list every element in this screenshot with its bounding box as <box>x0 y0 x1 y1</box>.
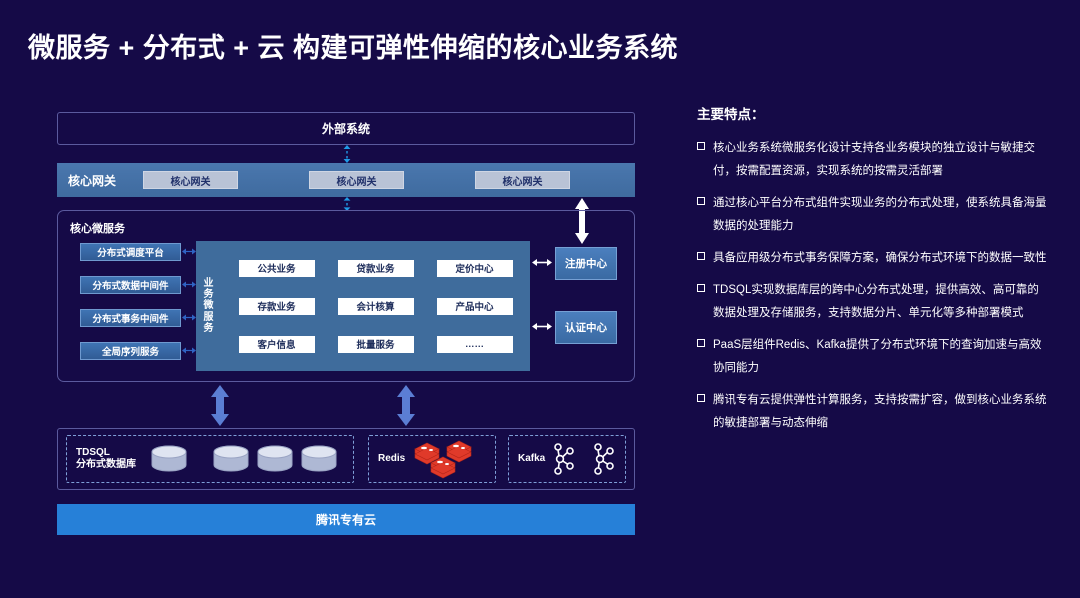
arrow-left-component-3 <box>182 313 196 322</box>
bullet-square-icon <box>697 197 705 205</box>
gateway-chip-1[interactable]: 核心网关 <box>143 171 238 189</box>
kafka-icons <box>551 442 617 476</box>
feature-item-text: PaaS层组件Redis、Kafka提供了分布式环境下的查询加速与高效协同能力 <box>713 334 1049 380</box>
arrow-left-component-1 <box>182 247 196 256</box>
service-chip[interactable]: 会计核算 <box>338 298 414 315</box>
tdsql-label-line1: TDSQL <box>76 447 110 458</box>
service-chip-label: 存款业务 <box>257 299 295 313</box>
arrow-left-component-4 <box>182 346 196 355</box>
service-chip-label: 贷款业务 <box>356 261 394 275</box>
bullet-square-icon <box>697 339 705 347</box>
database-cylinder-icon <box>150 445 188 473</box>
left-component-1[interactable]: 分布式调度平台 <box>80 243 181 261</box>
service-chip-label: 会计核算 <box>356 299 394 313</box>
gateway-chip-2[interactable]: 核心网关 <box>309 171 404 189</box>
registry-center-label: 注册中心 <box>565 256 607 271</box>
service-chip-label: …… <box>465 339 484 350</box>
bullet-square-icon <box>697 252 705 260</box>
service-chip[interactable]: 批量服务 <box>338 336 414 353</box>
arrow-to-auth-center <box>532 321 552 332</box>
business-microservice-panel: 业务微服务 公共业务 贷款业务 定价中心 存款业务 会计核算 产品中心 客户信息… <box>196 241 530 371</box>
left-component-3[interactable]: 分布式事务中间件 <box>80 309 181 327</box>
core-gateway-band-label: 核心网关 <box>68 172 116 189</box>
gateway-chip-2-label: 核心网关 <box>337 173 377 188</box>
tdsql-label: TDSQL 分布式数据库 <box>76 447 136 472</box>
data-layer-panel: TDSQL 分布式数据库 <box>57 428 635 490</box>
service-chip-label: 公共业务 <box>257 261 295 275</box>
core-microservice-panel: 核心微服务 分布式调度平台 分布式数据中间件 分布式事务中间件 全局序列服务 <box>57 210 635 382</box>
feature-item-text: 通过核心平台分布式组件实现业务的分布式处理，使系统具备海量数据的处理能力 <box>713 192 1049 238</box>
arrow-left-component-2 <box>182 280 196 289</box>
gateway-chip-3[interactable]: 核心网关 <box>475 171 570 189</box>
bullet-square-icon <box>697 284 705 292</box>
bullet-square-icon <box>697 142 705 150</box>
service-chip[interactable]: 产品中心 <box>437 298 513 315</box>
kafka-node-icon <box>591 442 617 476</box>
external-system-box: 外部系统 <box>57 112 635 145</box>
auth-center-label: 认证中心 <box>565 320 607 335</box>
registry-center-button[interactable]: 注册中心 <box>555 247 617 280</box>
tdsql-cylinders <box>150 445 338 473</box>
feature-item: 具备应用级分布式事务保障方案，确保分布式环境下的数据一致性 <box>697 247 1049 270</box>
service-chip[interactable]: 存款业务 <box>239 298 315 315</box>
redis-label: Redis <box>378 453 405 466</box>
service-chip[interactable]: 定价中心 <box>437 260 513 277</box>
arrow-gateway-to-core <box>340 197 354 211</box>
left-component-4-label: 全局序列服务 <box>102 344 159 358</box>
left-component-3-label: 分布式事务中间件 <box>92 311 168 325</box>
kafka-cell: Kafka <box>508 435 626 483</box>
service-chip[interactable]: 客户信息 <box>239 336 315 353</box>
service-chip-label: 客户信息 <box>257 337 295 351</box>
left-component-2-label: 分布式数据中间件 <box>92 278 168 292</box>
feature-item: TDSQL实现数据库层的跨中心分布式处理，提供高效、高可靠的数据处理及存储服务，… <box>697 279 1049 325</box>
feature-item-text: TDSQL实现数据库层的跨中心分布式处理，提供高效、高可靠的数据处理及存储服务，… <box>713 279 1049 325</box>
arrow-core-to-data-left <box>209 385 231 426</box>
feature-item-text: 具备应用级分布式事务保障方案，确保分布式环境下的数据一致性 <box>713 247 1047 270</box>
service-chip-label: 定价中心 <box>455 261 493 275</box>
database-cylinder-icon <box>212 445 250 473</box>
redis-cell: Redis <box>368 435 496 483</box>
service-chip[interactable]: 公共业务 <box>239 260 315 277</box>
kafka-label: Kafka <box>518 453 545 466</box>
service-chip[interactable]: 贷款业务 <box>338 260 414 277</box>
feature-item: 腾讯专有云提供弹性计算服务，支持按需扩容，做到核心业务系统的敏捷部署与动态伸缩 <box>697 389 1049 435</box>
feature-item: 通过核心平台分布式组件实现业务的分布式处理，使系统具备海量数据的处理能力 <box>697 192 1049 238</box>
arrow-external-to-gateway <box>340 145 354 163</box>
page-title: 微服务 + 分布式 + 云 构建可弹性伸缩的核心业务系统 <box>28 26 678 65</box>
gateway-chip-1-label: 核心网关 <box>171 173 211 188</box>
service-chip-label: 产品中心 <box>455 299 493 313</box>
service-chip-label: 批量服务 <box>356 337 394 351</box>
features-title: 主要特点： <box>697 103 1049 123</box>
service-grid: 公共业务 贷款业务 定价中心 存款业务 会计核算 产品中心 客户信息 批量服务 … <box>221 241 530 371</box>
left-component-2[interactable]: 分布式数据中间件 <box>80 276 181 294</box>
database-cylinder-icon <box>256 445 294 473</box>
tencent-cloud-label: 腾讯专有云 <box>316 511 376 528</box>
architecture-diagram: 外部系统 核心网关 核心网关 核心网关 核心网关 <box>57 112 635 537</box>
tdsql-cell: TDSQL 分布式数据库 <box>66 435 354 483</box>
service-chip[interactable]: …… <box>437 336 513 353</box>
feature-item: PaaS层组件Redis、Kafka提供了分布式环境下的查询加速与高效协同能力 <box>697 334 1049 380</box>
gateway-chip-3-label: 核心网关 <box>503 173 543 188</box>
feature-item-text: 核心业务系统微服务化设计支持各业务模块的独立设计与敏捷交付，按需配置资源，实现系… <box>713 137 1049 183</box>
feature-item-text: 腾讯专有云提供弹性计算服务，支持按需扩容，做到核心业务系统的敏捷部署与动态伸缩 <box>713 389 1049 435</box>
kafka-node-icon <box>551 442 577 476</box>
auth-center-button[interactable]: 认证中心 <box>555 311 617 344</box>
core-gateway-band: 核心网关 核心网关 核心网关 核心网关 <box>57 163 635 197</box>
features-panel: 主要特点： 核心业务系统微服务化设计支持各业务模块的独立设计与敏捷交付，按需配置… <box>697 103 1049 444</box>
arrow-to-registry-center <box>532 257 552 268</box>
redis-cube-icon <box>409 437 477 481</box>
tencent-cloud-band: 腾讯专有云 <box>57 504 635 535</box>
business-microservice-vertical-label: 业务微服务 <box>196 241 221 371</box>
tdsql-label-line2: 分布式数据库 <box>76 459 136 470</box>
feature-item: 核心业务系统微服务化设计支持各业务模块的独立设计与敏捷交付，按需配置资源，实现系… <box>697 137 1049 183</box>
external-system-label: 外部系统 <box>322 120 370 137</box>
left-component-1-label: 分布式调度平台 <box>97 245 164 259</box>
bullet-square-icon <box>697 394 705 402</box>
core-microservice-title: 核心微服务 <box>70 220 125 236</box>
arrow-core-to-data-right <box>395 385 417 426</box>
slide-root: 微服务 + 分布式 + 云 构建可弹性伸缩的核心业务系统 外部系统 核心网关 核… <box>0 0 1080 598</box>
database-cylinder-icon <box>300 445 338 473</box>
left-component-4[interactable]: 全局序列服务 <box>80 342 181 360</box>
